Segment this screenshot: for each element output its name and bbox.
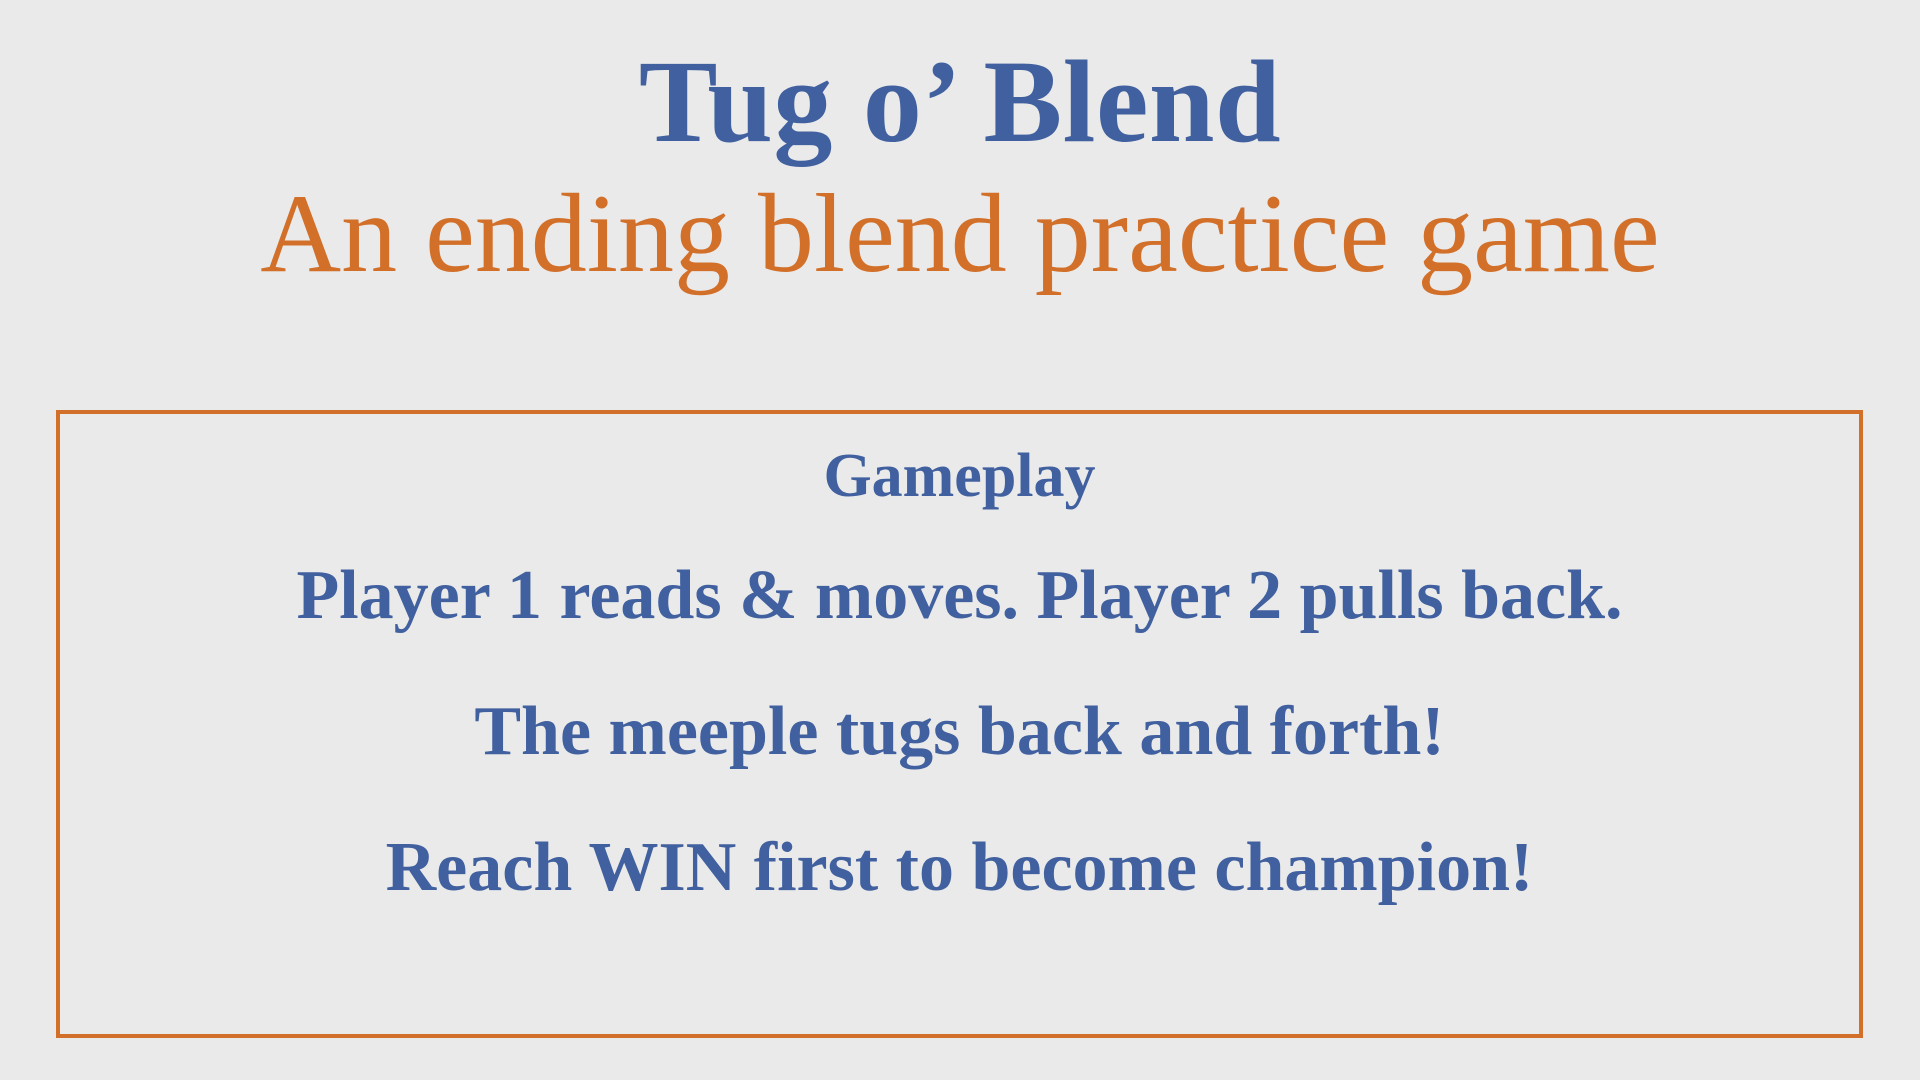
- slide-canvas: Tug o’ Blend An ending blend practice ga…: [0, 0, 1920, 1080]
- gameplay-heading: Gameplay: [823, 438, 1095, 516]
- gameplay-rule-line-1: Player 1 reads & moves. Player 2 pulls b…: [296, 554, 1622, 638]
- gameplay-rule-line-3: Reach WIN first to become champion!: [386, 826, 1534, 910]
- gameplay-rule-line-2: The meeple tugs back and forth!: [474, 690, 1444, 774]
- page-title: Tug o’ Blend: [0, 34, 1920, 171]
- gameplay-box: Gameplay Player 1 reads & moves. Player …: [56, 410, 1863, 1038]
- page-subtitle: An ending blend practice game: [0, 170, 1920, 300]
